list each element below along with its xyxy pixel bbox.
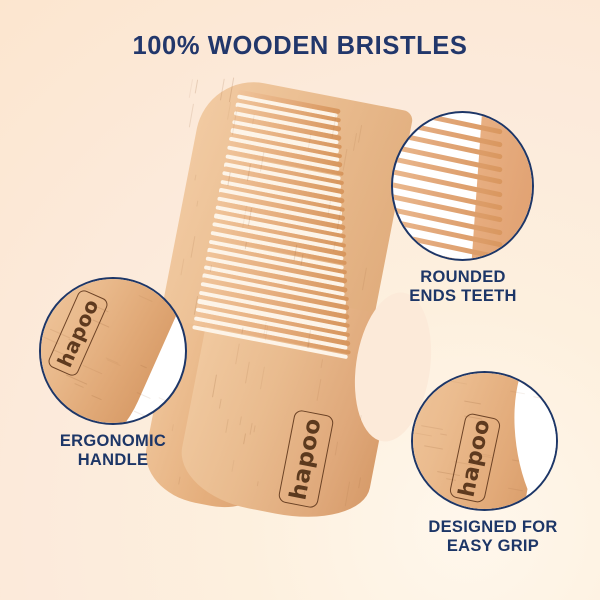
caption-line-1: ERGONOMIC (18, 432, 208, 451)
page-title: 100% WOODEN BRISTLES (0, 32, 600, 60)
wood-grain-line (179, 389, 184, 392)
callout-caption-teeth: ROUNDED ENDS TEETH (375, 268, 551, 307)
wood-grain-line (188, 103, 194, 127)
wood-grain-line (188, 79, 193, 98)
caption-line-1: DESIGNED FOR (398, 518, 588, 537)
caption-line-1: ROUNDED (375, 268, 551, 287)
callout-caption-handle: ERGONOMIC HANDLE (18, 432, 208, 471)
handle-zoom-content: hapoo (39, 277, 187, 425)
teeth-zoom-content (391, 111, 534, 261)
callout-caption-grip: DESIGNED FOR EASY GRIP (398, 518, 588, 557)
callout-circle-handle: hapoo (39, 277, 187, 425)
wood-grain-line (194, 80, 198, 94)
wood-grain-line (158, 397, 172, 404)
grip-zoom-content: hapoo (411, 371, 558, 511)
infographic-canvas: 100% WOODEN BRISTLES hapoo ROUNDED ENDS … (0, 0, 600, 600)
caption-line-2: EASY GRIP (398, 537, 588, 556)
wood-grain-line (134, 411, 150, 419)
callout-circle-teeth (391, 111, 534, 261)
caption-line-2: ENDS TEETH (375, 287, 551, 306)
callout-circle-grip: hapoo (411, 371, 558, 511)
caption-line-2: HANDLE (18, 451, 208, 470)
